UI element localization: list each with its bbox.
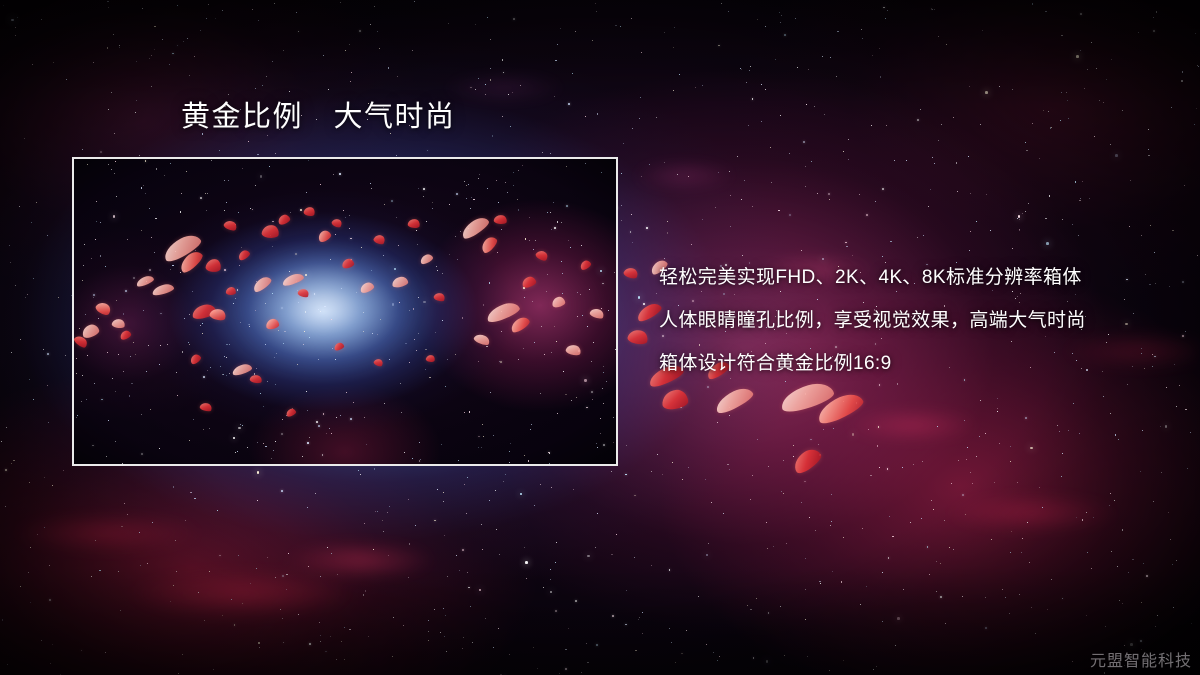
petal [713, 384, 756, 416]
body-line-2: 人体眼睛瞳孔比例，享受视觉效果，高端大气时尚 [659, 299, 1179, 342]
body-copy: 轻松完美实现FHD、2K、4K、8K标准分辨率箱体 人体眼睛瞳孔比例，享受视觉效… [659, 256, 1179, 385]
body-line-3: 箱体设计符合黄金比例16:9 [659, 342, 1179, 385]
petal [623, 266, 640, 281]
framed-image [72, 157, 618, 466]
presentation-slide: 黄金比例 大气时尚 轻松完美实现FHD、2K、4K、8K标准分辨率箱体 人体眼睛… [0, 0, 1200, 675]
framed-image-content [74, 159, 616, 464]
petal [814, 389, 866, 427]
petal [627, 328, 650, 346]
petal [661, 389, 689, 411]
body-line-1: 轻松完美实现FHD、2K、4K、8K标准分辨率箱体 [659, 256, 1179, 299]
page-title: 黄金比例 大气时尚 [181, 101, 456, 134]
petal [790, 445, 824, 476]
watermark: 元盟智能科技 [1090, 647, 1192, 671]
